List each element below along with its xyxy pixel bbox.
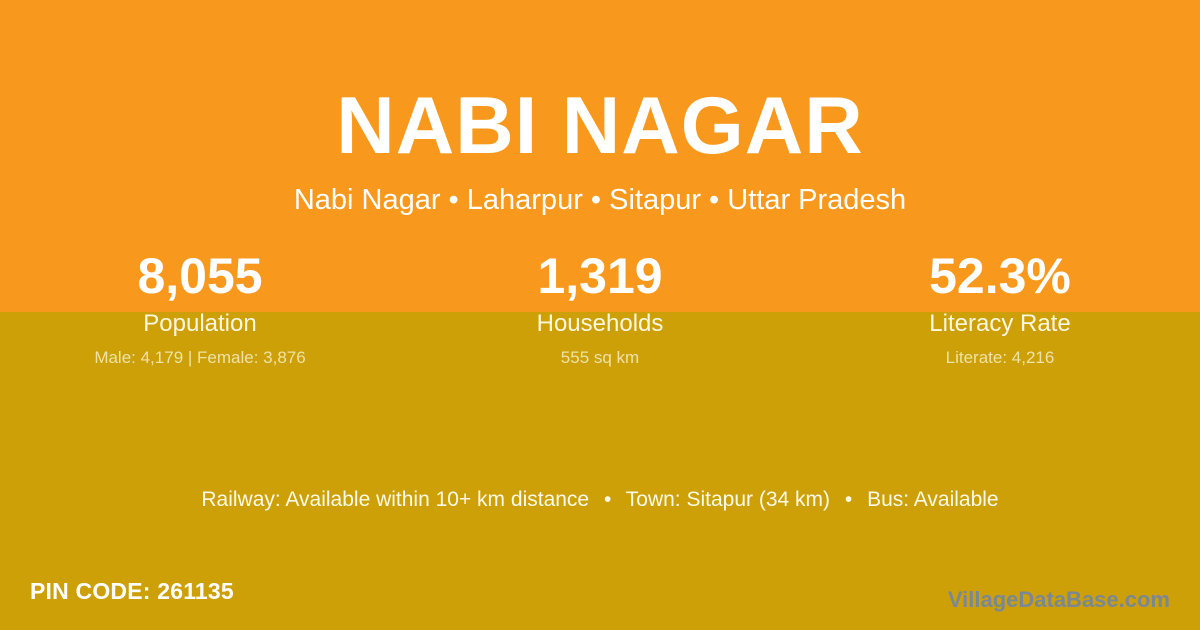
stat-households: 1,319 Households 555 sq km bbox=[400, 247, 800, 368]
stat-literacy-label: Literacy Rate bbox=[800, 310, 1200, 338]
stat-households-value: 1,319 bbox=[400, 247, 800, 305]
amenity-town: Town: Sitapur (34 km) bbox=[626, 488, 830, 511]
stat-population-detail: Male: 4,179 | Female: 3,876 bbox=[0, 348, 400, 368]
stat-literacy-value: 52.3% bbox=[800, 247, 1200, 305]
amenities-line: Railway: Available within 10+ km distanc… bbox=[0, 487, 1200, 513]
village-info-card: NABI NAGAR Nabi Nagar • Laharpur • Sitap… bbox=[0, 0, 1200, 630]
stat-literacy: 52.3% Literacy Rate Literate: 4,216 bbox=[800, 247, 1200, 368]
pin-code-label: PIN CODE: 261135 bbox=[30, 577, 234, 605]
amenity-bus: Bus: Available bbox=[867, 488, 999, 511]
stat-literacy-detail: Literate: 4,216 bbox=[800, 348, 1200, 368]
stat-households-detail: 555 sq km bbox=[400, 348, 800, 368]
page-title: NABI NAGAR bbox=[0, 79, 1200, 173]
site-brand-watermark: VillageDataBase.com bbox=[948, 586, 1170, 613]
location-breadcrumb: Nabi Nagar • Laharpur • Sitapur • Uttar … bbox=[0, 182, 1200, 218]
amenity-railway: Railway: Available within 10+ km distanc… bbox=[201, 488, 589, 511]
stat-households-label: Households bbox=[400, 310, 800, 338]
amenity-separator-2: • bbox=[836, 488, 861, 511]
stat-population: 8,055 Population Male: 4,179 | Female: 3… bbox=[0, 247, 400, 368]
stat-population-label: Population bbox=[0, 310, 400, 338]
stats-row: 8,055 Population Male: 4,179 | Female: 3… bbox=[0, 247, 1200, 368]
amenity-separator-1: • bbox=[595, 488, 620, 511]
stat-population-value: 8,055 bbox=[0, 247, 400, 305]
